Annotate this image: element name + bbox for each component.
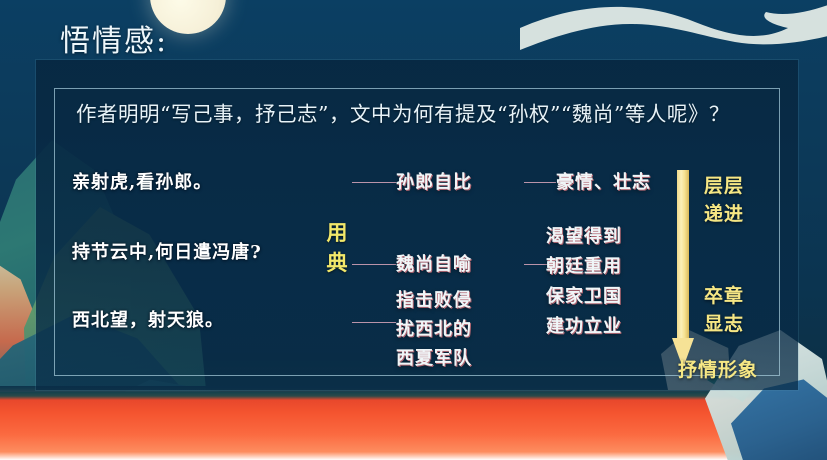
- allusion-label: 用 典: [324, 218, 350, 278]
- effect-group: 渴望得到 朝廷重用 保家卫国 建功立业: [546, 222, 622, 342]
- summary-conclusion: 卒章 显志: [704, 282, 744, 338]
- summary-progression-line1: 层层: [704, 172, 744, 200]
- allusion-label-char1: 用: [324, 218, 350, 248]
- effect-line-2: 朝廷重用: [546, 252, 622, 282]
- connector-line-1b: [524, 182, 556, 183]
- effect-haoqing: 豪情、壮志: [556, 169, 651, 197]
- cloud-ribbon-icon: [520, 0, 827, 62]
- allusion-xixia-line3: 西夏军队: [396, 344, 472, 373]
- down-arrow-shaft: [677, 170, 689, 342]
- poem-line-3: 西北望，射天狼。: [72, 306, 224, 332]
- allusion-xixia: 指击败侵 扰西北的 西夏军队: [396, 286, 472, 373]
- poem-line-1: 亲射虎,看孙郎。: [72, 168, 212, 194]
- allusion-xixia-line1: 指击败侵: [396, 286, 472, 315]
- allusion-label-char2: 典: [324, 248, 350, 278]
- page-title: 悟情感:: [60, 16, 168, 60]
- sunset-band: [0, 392, 827, 460]
- slide-canvas: 悟情感: 作者明明“写己事，抒己志”，文中为何有提及“孙权”“魏尚”等人呢》？ …: [0, 0, 827, 460]
- down-arrow-icon: [672, 170, 694, 370]
- summary-image: 抒情形象: [678, 356, 758, 384]
- summary-progression: 层层 递进: [704, 172, 744, 228]
- question-text: 作者明明“写己事，抒己志”，文中为何有提及“孙权”“魏尚”等人呢》？: [76, 98, 766, 130]
- allusion-weishang: 魏尚自喻: [396, 251, 472, 279]
- effect-line-3: 保家卫国: [546, 282, 622, 312]
- allusion-xixia-line2: 扰西北的: [396, 315, 472, 344]
- summary-conclusion-line1: 卒章: [704, 282, 744, 310]
- connector-line-2a: [352, 264, 396, 265]
- connector-line-1a: [352, 182, 396, 183]
- connector-line-3a: [352, 322, 396, 323]
- allusion-sunquan: 孙郎自比: [396, 169, 472, 197]
- poem-line-2: 持节云中,何日遣冯唐?: [72, 238, 262, 264]
- summary-conclusion-line2: 显志: [704, 310, 744, 338]
- summary-progression-line2: 递进: [704, 200, 744, 228]
- effect-line-4: 建功立业: [546, 312, 622, 342]
- effect-line-1: 渴望得到: [546, 222, 622, 252]
